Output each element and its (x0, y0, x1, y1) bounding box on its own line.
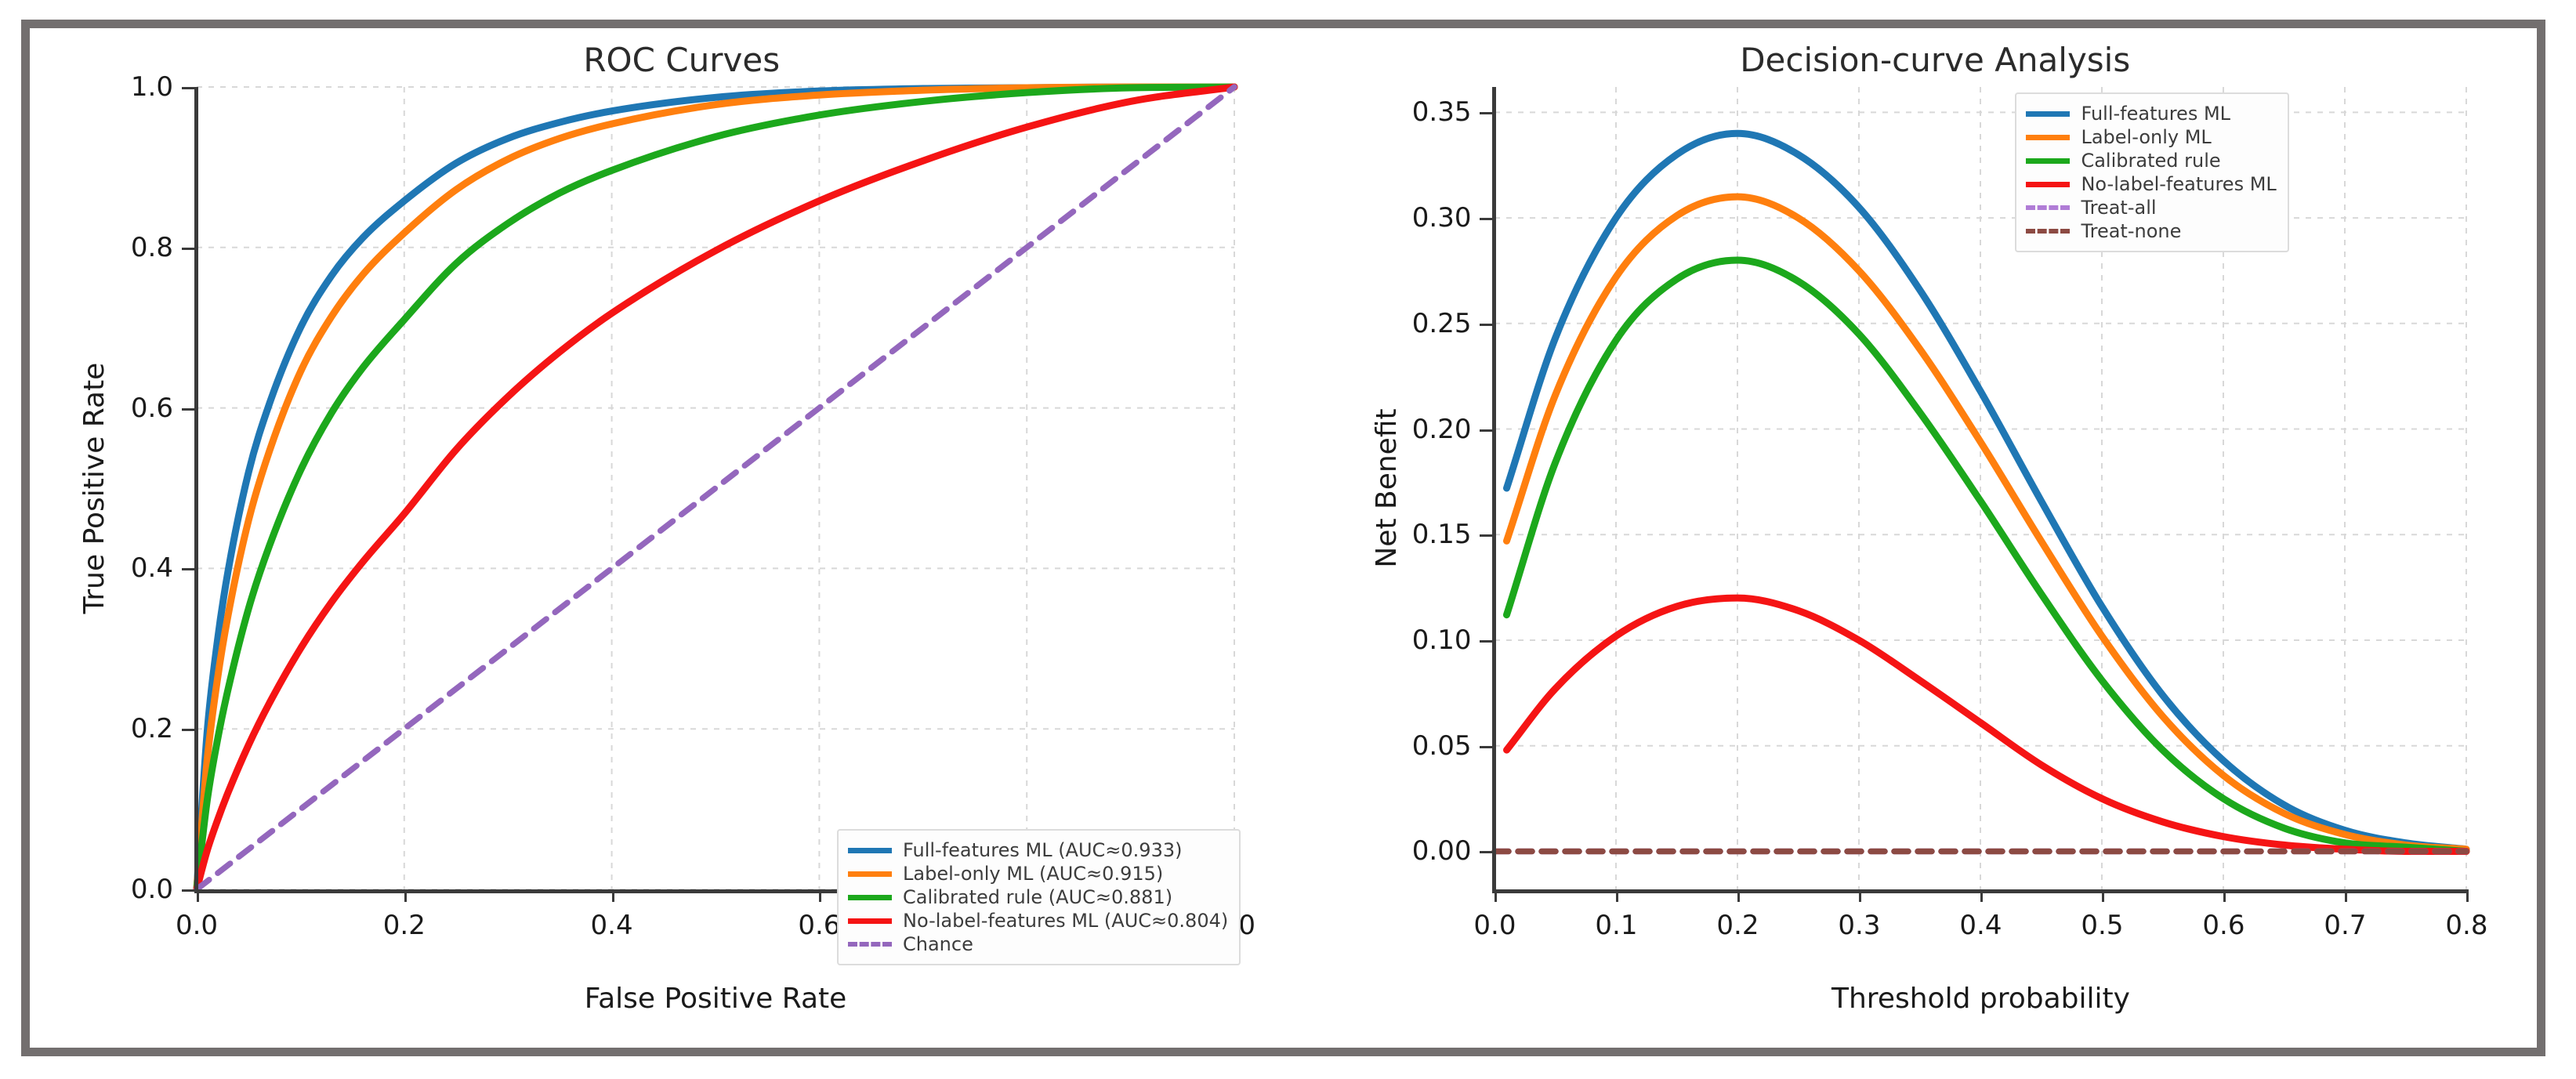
figure-root: ROC Curves 0.00.20.40.60.81.00.00.20.40.… (0, 0, 2576, 1079)
x-tick-label: 0.4 (591, 910, 633, 941)
roc-yaxis-label: True Positive Rate (78, 87, 111, 889)
y-tick (1480, 429, 1492, 432)
legend-label: No-label-features ML (2081, 175, 2276, 194)
x-tick (197, 889, 199, 902)
y-tick (182, 87, 194, 89)
legend-label: Full-features ML (AUC≈0.933) (903, 841, 1182, 860)
legend-swatch-dashed-icon (848, 942, 892, 947)
y-tick-label: 0.05 (1412, 730, 1472, 762)
dca-legend[interactable]: Full-features MLLabel-only MLCalibrated … (2015, 92, 2288, 252)
legend-swatch-line-icon (848, 918, 892, 924)
x-tick-label: 0.8 (2445, 910, 2487, 941)
x-tick-label: 0.2 (1716, 910, 1759, 941)
panel-dca: Decision-curve Analysis 0.00.10.20.30.40… (1333, 28, 2537, 1048)
y-tick (182, 248, 194, 250)
figure-frame: ROC Curves 0.00.20.40.60.81.00.00.20.40.… (21, 20, 2545, 1056)
legend-item[interactable]: No-label-features ML (AUC≈0.804) (848, 909, 1228, 932)
legend-item[interactable]: Chance (848, 932, 1228, 956)
legend-swatch-line-icon (848, 895, 892, 900)
y-tick (1480, 640, 1492, 643)
y-tick (182, 729, 194, 731)
legend-swatch-line-icon (2026, 135, 2070, 140)
legend-label: Full-features ML (2081, 104, 2230, 123)
x-tick-label: 0.0 (176, 910, 218, 941)
x-tick (1616, 889, 1618, 902)
legend-item[interactable]: Calibrated rule (AUC≈0.881) (848, 885, 1228, 909)
x-tick-label: 0.3 (1838, 910, 1880, 941)
legend-swatch-dashed-icon (2026, 205, 2070, 210)
series-line (1507, 598, 2467, 851)
y-tick-label: 0.10 (1412, 625, 1472, 656)
y-tick (1480, 324, 1492, 326)
y-tick-label: 0.2 (131, 713, 173, 744)
dca-xaxis-label: Threshold probability (1495, 983, 2466, 1015)
y-axis-spine (1492, 87, 1496, 889)
x-tick-label: 0.1 (1595, 910, 1637, 941)
dca-plot-area (1495, 87, 2466, 889)
legend-label: Chance (903, 935, 973, 954)
y-tick-label: 1.0 (131, 71, 173, 103)
legend-label: Label-only ML (AUC≈0.915) (903, 864, 1163, 883)
dca-title: Decision-curve Analysis (1333, 41, 2537, 79)
legend-item[interactable]: Full-features ML (AUC≈0.933) (848, 838, 1228, 862)
legend-item[interactable]: Label-only ML (2026, 125, 2276, 149)
y-tick-label: 0.4 (131, 552, 173, 584)
roc-xaxis-label: False Positive Rate (197, 983, 1234, 1015)
y-tick-label: 0.8 (131, 232, 173, 263)
x-tick-label: 0.2 (383, 910, 426, 941)
x-tick (2466, 889, 2469, 902)
x-tick (1737, 889, 1740, 902)
x-tick (2345, 889, 2347, 902)
legend-item[interactable]: No-label-features ML (2026, 172, 2276, 196)
x-tick (1495, 889, 1497, 902)
legend-label: Treat-none (2081, 222, 2181, 241)
x-tick (2102, 889, 2104, 902)
x-tick (1859, 889, 1861, 902)
y-tick (1480, 851, 1492, 853)
y-tick-label: 0.20 (1412, 414, 1472, 445)
roc-title: ROC Curves (30, 41, 1333, 79)
x-tick-label: 0.0 (1473, 910, 1516, 941)
legend-label: Label-only ML (2081, 128, 2211, 147)
legend-swatch-line-icon (2026, 158, 2070, 164)
dca-yaxis-label: Net Benefit (1371, 87, 1403, 889)
roc-curves-svg (197, 87, 1234, 889)
x-tick (2223, 889, 2226, 902)
legend-swatch-line-icon (848, 848, 892, 853)
y-tick-label: 0.25 (1412, 308, 1472, 339)
legend-label: Calibrated rule (AUC≈0.881) (903, 888, 1172, 907)
y-tick-label: 0.15 (1412, 519, 1472, 550)
x-tick-label: 0.6 (798, 910, 840, 941)
x-tick-label: 0.4 (1959, 910, 2002, 941)
legend-swatch-dashed-icon (2026, 229, 2070, 234)
x-tick-label: 0.5 (2081, 910, 2123, 941)
x-tick (819, 889, 821, 902)
y-tick (182, 889, 194, 892)
panel-roc: ROC Curves 0.00.20.40.60.81.00.00.20.40.… (30, 28, 1333, 1048)
y-tick-label: 0.0 (131, 874, 173, 905)
y-tick (182, 408, 194, 411)
dca-curves-svg (1495, 87, 2466, 889)
roc-legend[interactable]: Full-features ML (AUC≈0.933)Label-only M… (837, 829, 1241, 965)
series-line (197, 87, 1234, 889)
legend-item[interactable]: Treat-none (2026, 219, 2276, 243)
legend-item[interactable]: Full-features ML (2026, 102, 2276, 125)
x-tick (612, 889, 614, 902)
y-tick-label: 0.00 (1412, 835, 1472, 867)
x-tick-label: 0.7 (2324, 910, 2366, 941)
y-tick-label: 0.35 (1412, 96, 1472, 128)
x-tick-label: 0.6 (2202, 910, 2244, 941)
x-tick (1980, 889, 1983, 902)
y-axis-spine (194, 87, 198, 889)
y-tick (182, 568, 194, 570)
y-tick (1480, 746, 1492, 748)
y-tick-label: 0.30 (1412, 202, 1472, 234)
y-tick (1480, 218, 1492, 220)
legend-item[interactable]: Label-only ML (AUC≈0.915) (848, 862, 1228, 885)
legend-label: Treat-all (2081, 198, 2156, 217)
y-tick-label: 0.6 (131, 393, 173, 424)
legend-label: Calibrated rule (2081, 151, 2220, 170)
legend-item[interactable]: Calibrated rule (2026, 149, 2276, 172)
legend-item[interactable]: Treat-all (2026, 196, 2276, 219)
y-tick (1480, 112, 1492, 114)
legend-label: No-label-features ML (AUC≈0.804) (903, 911, 1228, 930)
roc-plot-area (197, 87, 1234, 889)
legend-swatch-line-icon (2026, 182, 2070, 187)
x-tick (404, 889, 407, 902)
legend-swatch-line-icon (2026, 111, 2070, 117)
y-tick (1480, 534, 1492, 537)
legend-swatch-line-icon (848, 871, 892, 877)
series-line (1507, 260, 2467, 852)
